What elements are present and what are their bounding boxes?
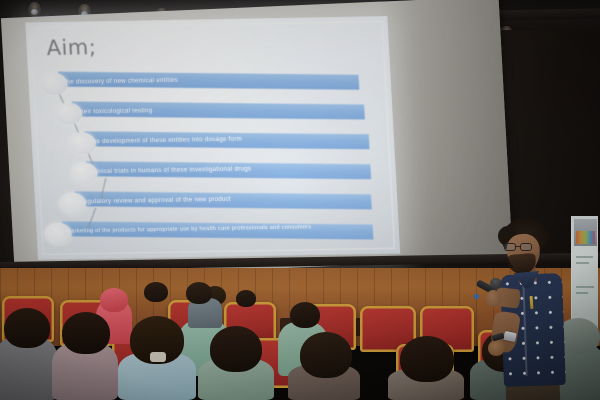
list-item: The discovery of new chemical entities [28, 68, 391, 96]
audience-head [236, 290, 256, 307]
audience-head [300, 332, 352, 378]
list-item: Their toxicological testing [30, 98, 393, 126]
audience-head [62, 312, 110, 354]
audience-head [400, 336, 454, 382]
slide-bullet-list: The discovery of new chemical entities T… [28, 68, 400, 260]
audience-head [100, 288, 128, 312]
bullet-text: Their toxicological testing [76, 107, 153, 115]
slide-title: Aim; [46, 35, 97, 60]
presenter [480, 216, 595, 400]
audience-head [4, 308, 50, 348]
audience-hair-tie [150, 352, 166, 362]
audience-head [290, 302, 320, 328]
presentation-slide: Aim; The discovery of new chemical entit… [25, 16, 400, 260]
spotlight-icon [28, 2, 41, 17]
glasses-lens [520, 243, 532, 251]
list-item: Clinical trials in humans of these inves… [33, 158, 396, 186]
audience-head [144, 282, 168, 302]
audience-head [186, 282, 212, 304]
list-item: The development of these entities into d… [31, 128, 394, 156]
list-item: Regulatory review and approval of the ne… [34, 188, 397, 216]
glasses-lens [504, 243, 516, 251]
audience-head [210, 326, 262, 372]
presenter-hand [486, 290, 501, 307]
auditorium-scene: Aim; The discovery of new chemical entit… [0, 0, 600, 400]
projection-screen: Aim; The discovery of new chemical entit… [1, 0, 513, 280]
glasses-icon [504, 243, 535, 251]
